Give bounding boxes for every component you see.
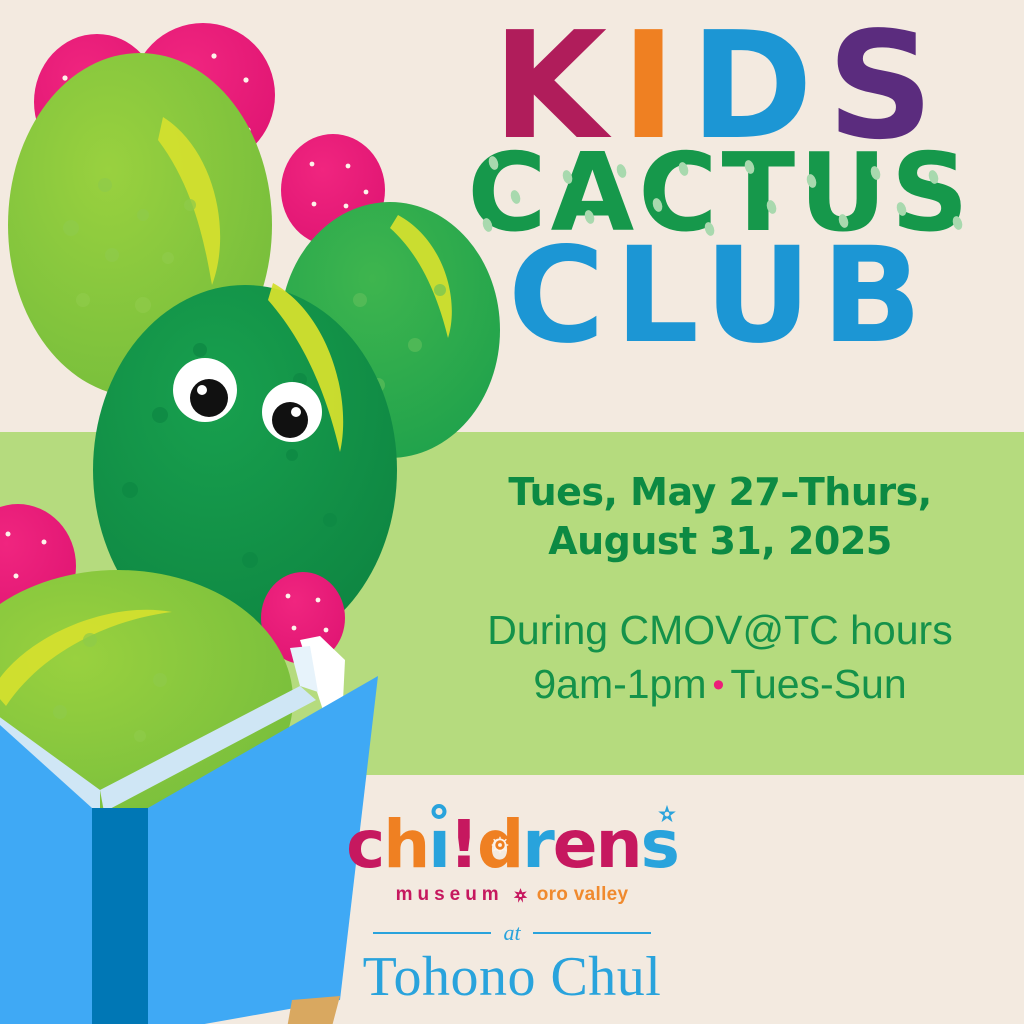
museum-logo: chı!drens museum oro valley at Tohono Ch… — [312, 812, 712, 1007]
logo-letter-r: r — [522, 806, 553, 883]
title-cactus-text: CACTUS — [467, 131, 972, 256]
logo-letter-n: n — [596, 806, 641, 883]
logo-i-dot-ring-icon — [431, 804, 446, 819]
logo-letter-h: h — [383, 806, 428, 883]
poster-canvas: KIDS CACTUS — [0, 0, 1024, 1024]
logo-at-label: at — [503, 920, 520, 946]
event-dates-line2: August 31, 2025 — [430, 517, 1010, 566]
event-dates: Tues, May 27–Thurs, August 31, 2025 — [430, 468, 1010, 565]
logo-venue-name: Tohono Chul — [312, 948, 712, 1007]
event-hours-line2: 9am-1pm•Tues-Sun — [430, 657, 1010, 711]
flower-icon — [512, 887, 529, 904]
logo-letter-c: c — [346, 806, 383, 883]
logo-letter-exclaim: ! — [449, 806, 477, 883]
logo-sub-oro-valley: oro valley — [537, 884, 629, 906]
divider-rule-right — [533, 932, 651, 934]
event-info: Tues, May 27–Thurs, August 31, 2025 Duri… — [430, 468, 1010, 711]
logo-letter-e: e — [553, 806, 596, 883]
logo-wordmark: chı!drens — [312, 812, 712, 878]
bullet-separator-icon: • — [707, 666, 731, 704]
event-hours: During CMOV@TC hours 9am-1pm•Tues-Sun — [430, 603, 1010, 711]
divider-rule-left — [373, 932, 491, 934]
star-apostrophe-icon — [656, 804, 678, 826]
logo-subtitle: museum oro valley — [312, 884, 712, 906]
event-hours-line1: During CMOV@TC hours — [430, 603, 1010, 657]
title-line-cactus: CACTUS — [430, 140, 1010, 248]
logo-letter-d: d — [477, 806, 522, 883]
poster-title: KIDS CACTUS — [430, 18, 1010, 362]
event-hours-days: Tues-Sun — [730, 661, 906, 707]
logo-letter-i: ı — [428, 806, 449, 883]
logo-sub-museum: museum — [396, 884, 504, 906]
cactus-eye-left — [173, 358, 237, 422]
event-hours-time: 9am-1pm — [533, 661, 706, 707]
event-dates-line1: Tues, May 27–Thurs, — [430, 468, 1010, 517]
cactus-eye-right — [262, 382, 322, 442]
logo-at-divider: at — [312, 920, 712, 946]
gear-icon — [489, 834, 510, 855]
